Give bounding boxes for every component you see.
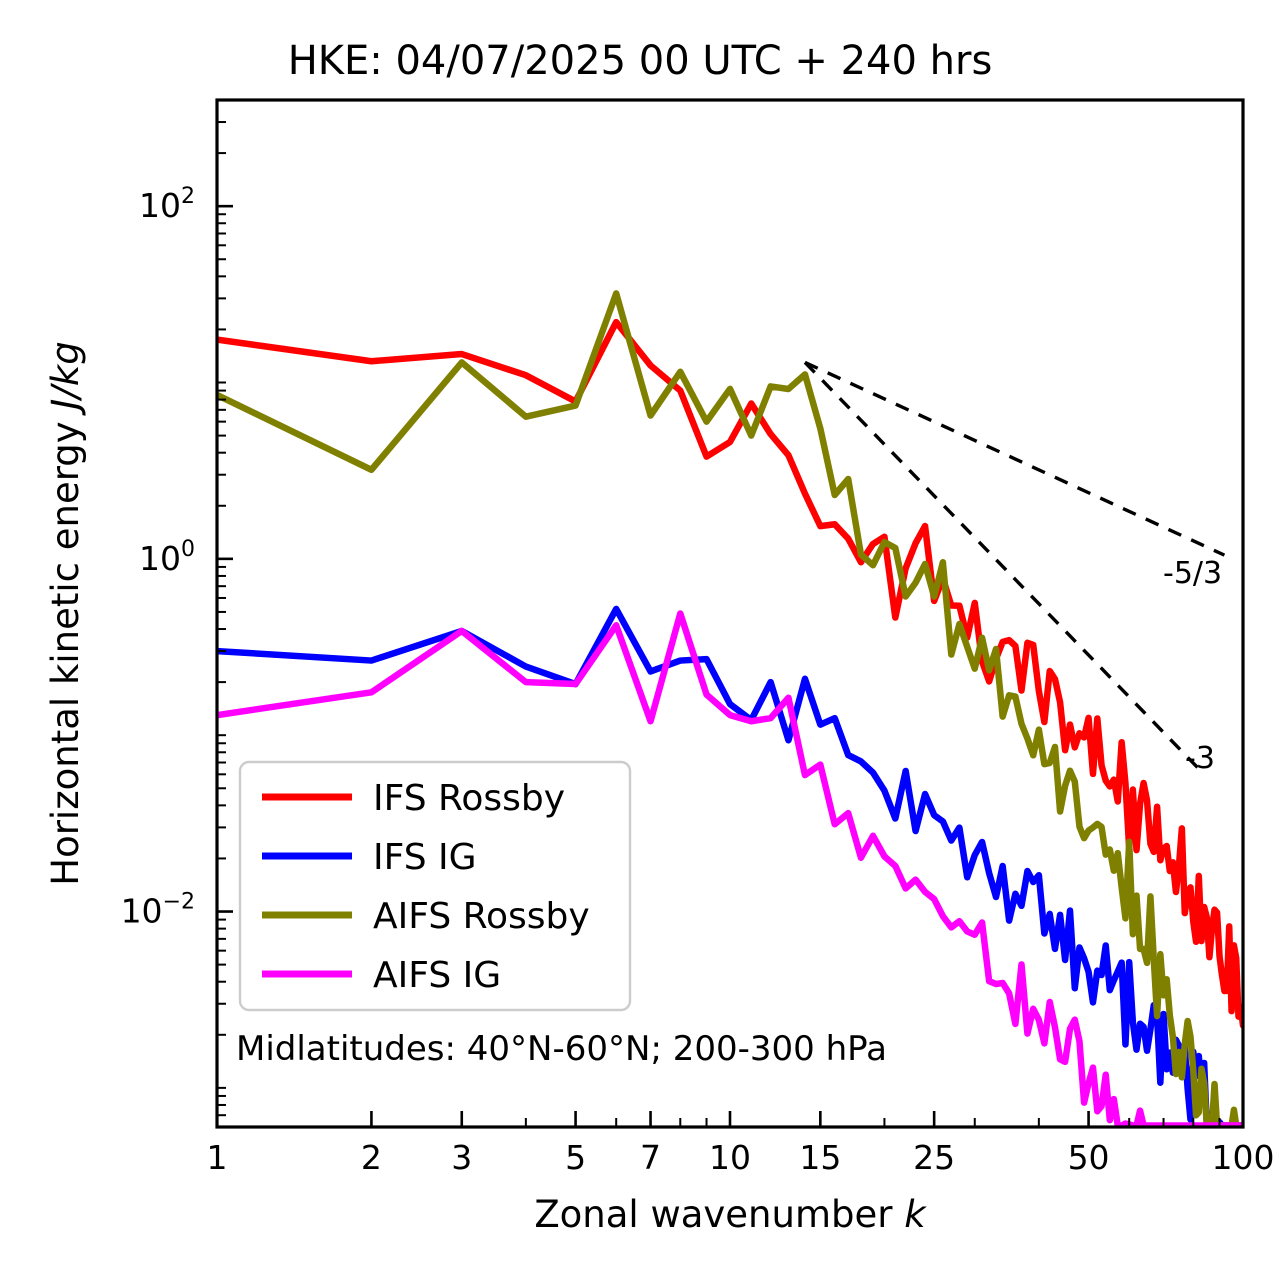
x-tick-label: 7	[640, 1138, 661, 1177]
y-tick-label: 100	[139, 537, 195, 578]
y-axis-label: Horizontal kinetic energy J/kg	[44, 341, 87, 885]
plot-annotation: Midlatitudes: 40°N-60°N; 200-300 hPa	[236, 1029, 887, 1069]
x-axis-label: Zonal wavenumber k	[534, 1193, 927, 1236]
figure-container: HKE: 04/07/2025 00 UTC + 240 hrs 1235710…	[0, 0, 1280, 1288]
x-tick-label: 10	[709, 1138, 751, 1177]
x-tick-label: 2	[361, 1138, 382, 1177]
x-tick-label: 3	[451, 1138, 472, 1177]
slope-label-5-3: -5/3	[1163, 556, 1222, 591]
x-tick-label: 50	[1068, 1138, 1110, 1177]
x-tick-label: 100	[1212, 1138, 1275, 1177]
legend-label-ifs-ig: IFS IG	[373, 837, 477, 878]
legend-label-ifs-rossby: IFS Rossby	[373, 778, 565, 819]
slope-label-3: -3	[1185, 741, 1215, 776]
x-tick-label: 1	[207, 1138, 228, 1177]
y-tick-label: 10−2	[121, 890, 195, 931]
x-tick-label: 25	[913, 1138, 955, 1177]
x-tick-label: 5	[565, 1138, 586, 1177]
legend-label-aifs-rossby: AIFS Rossby	[373, 896, 590, 937]
reference-slope-line-0	[805, 362, 1224, 555]
y-tick-label: 102	[139, 184, 195, 225]
legend-label-aifs-ig: AIFS IG	[373, 955, 501, 996]
plot-area: 123571015255010010210010−2Zonal wavenumb…	[0, 0, 1280, 1288]
x-tick-label: 15	[799, 1138, 841, 1177]
